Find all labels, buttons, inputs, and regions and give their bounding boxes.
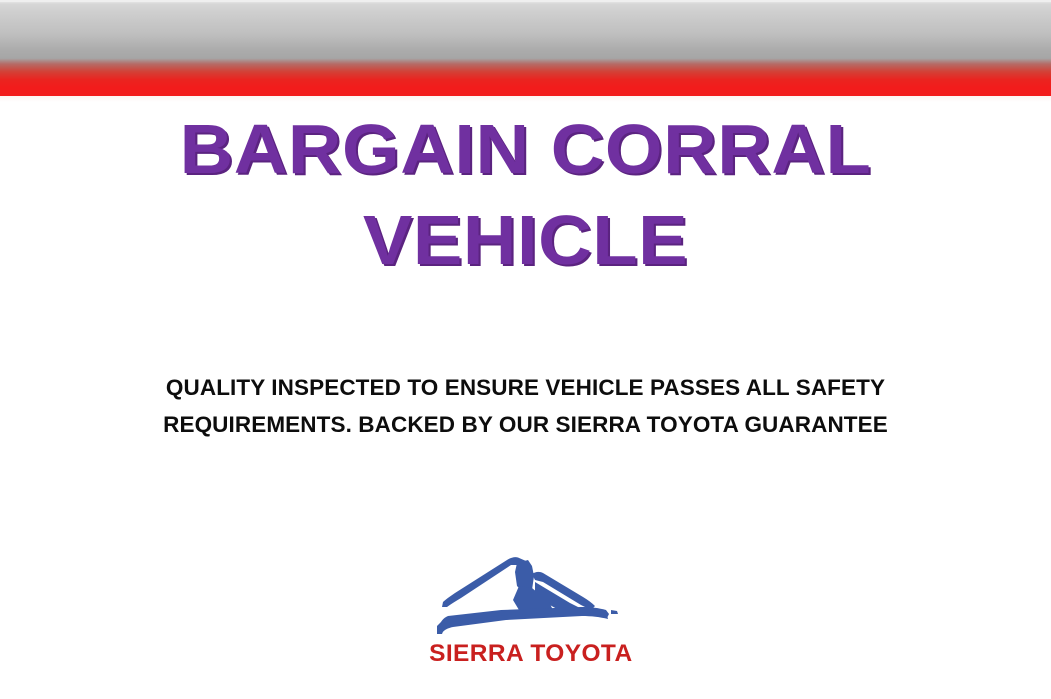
page-title: BARGAIN CORRAL VEHICLE xyxy=(0,104,1051,286)
page-title-line-1: BARGAIN CORRAL xyxy=(0,104,1051,195)
guarantee-subtitle-line-1: QUALITY INSPECTED TO ENSURE VEHICLE PASS… xyxy=(0,369,1051,406)
page-title-line-2: VEHICLE xyxy=(0,195,1051,286)
dealer-logo: SIERRA TOYOTA xyxy=(0,552,1051,667)
header-top-hairline xyxy=(0,0,1051,2)
guarantee-subtitle: QUALITY INSPECTED TO ENSURE VEHICLE PASS… xyxy=(0,369,1051,443)
guarantee-subtitle-line-2: REQUIREMENTS. BACKED BY OUR SIERRA TOYOT… xyxy=(0,406,1051,443)
dealer-logo-wordmark: SIERRA TOYOTA xyxy=(429,641,623,667)
header-bottom-fade xyxy=(0,96,1051,102)
header-gradient-band xyxy=(0,0,1051,97)
bargain-corral-vehicle-slide: BARGAIN CORRAL VEHICLE QUALITY INSPECTED… xyxy=(0,0,1051,699)
sierra-mountain-brushstroke-icon xyxy=(431,552,621,640)
dealer-logo-inner: SIERRA TOYOTA xyxy=(431,552,621,667)
